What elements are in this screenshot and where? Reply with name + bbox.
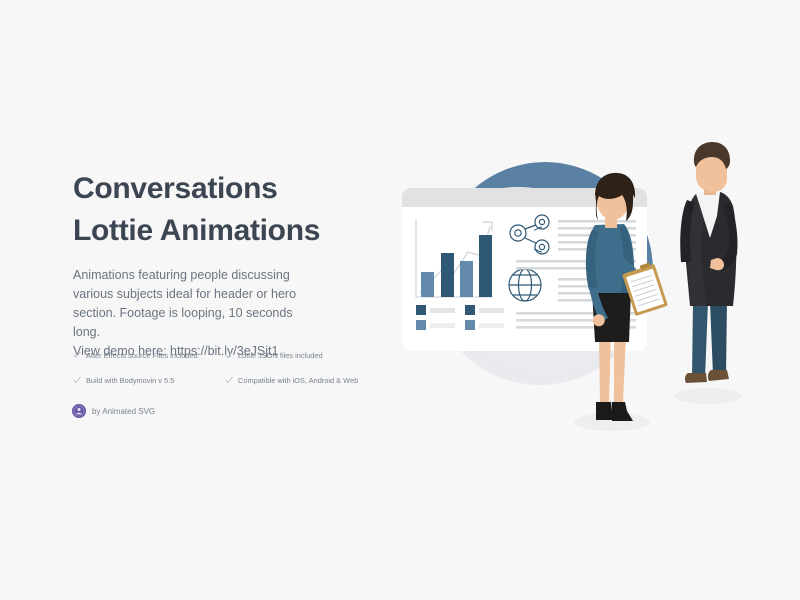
chart-bar-4 bbox=[479, 235, 492, 297]
check-icon bbox=[73, 376, 81, 384]
page-root: Conversations Lottie Animations Animatio… bbox=[0, 0, 800, 600]
check-icon bbox=[225, 376, 233, 384]
feature-list: After Effects source Files included Lott… bbox=[73, 350, 373, 386]
description-line-2: various subjects ideal for header or her… bbox=[73, 285, 318, 304]
description-line-1: Animations featuring people discussing bbox=[73, 266, 318, 285]
check-icon bbox=[73, 351, 81, 359]
page-title: Conversations Lottie Animations bbox=[73, 168, 383, 252]
conversation-illustration bbox=[390, 130, 790, 470]
headline-line-2: Lottie Animations bbox=[73, 210, 383, 252]
hero-copy: Conversations Lottie Animations Animatio… bbox=[73, 168, 383, 361]
check-icon bbox=[225, 351, 233, 359]
feature-item: Lottie JSON files included bbox=[225, 350, 373, 361]
chart-bar-3 bbox=[460, 261, 473, 297]
description-line-3: section. Footage is looping, 10 seconds … bbox=[73, 304, 318, 342]
man-listener bbox=[680, 142, 737, 383]
author-avatar-icon bbox=[72, 404, 86, 418]
man-shadow bbox=[674, 388, 742, 404]
byline[interactable]: by Animated SVG bbox=[72, 404, 155, 418]
hero-description: Animations featuring people discussing v… bbox=[73, 266, 318, 361]
feature-label: After Effects source Files included bbox=[86, 350, 198, 361]
feature-item: Build with Bodymovin v 5.5 bbox=[73, 375, 225, 386]
headline-line-1: Conversations bbox=[73, 168, 383, 210]
feature-label: Compatible with iOS, Android & Web bbox=[238, 375, 358, 386]
feature-item: Compatible with iOS, Android & Web bbox=[225, 375, 373, 386]
feature-label: Lottie JSON files included bbox=[238, 350, 323, 361]
chart-bar-1 bbox=[421, 272, 434, 297]
feature-label: Build with Bodymovin v 5.5 bbox=[86, 375, 174, 386]
feature-item: After Effects source Files included bbox=[73, 350, 225, 361]
chart-bar-2 bbox=[441, 253, 454, 297]
byline-text: by Animated SVG bbox=[92, 407, 155, 416]
